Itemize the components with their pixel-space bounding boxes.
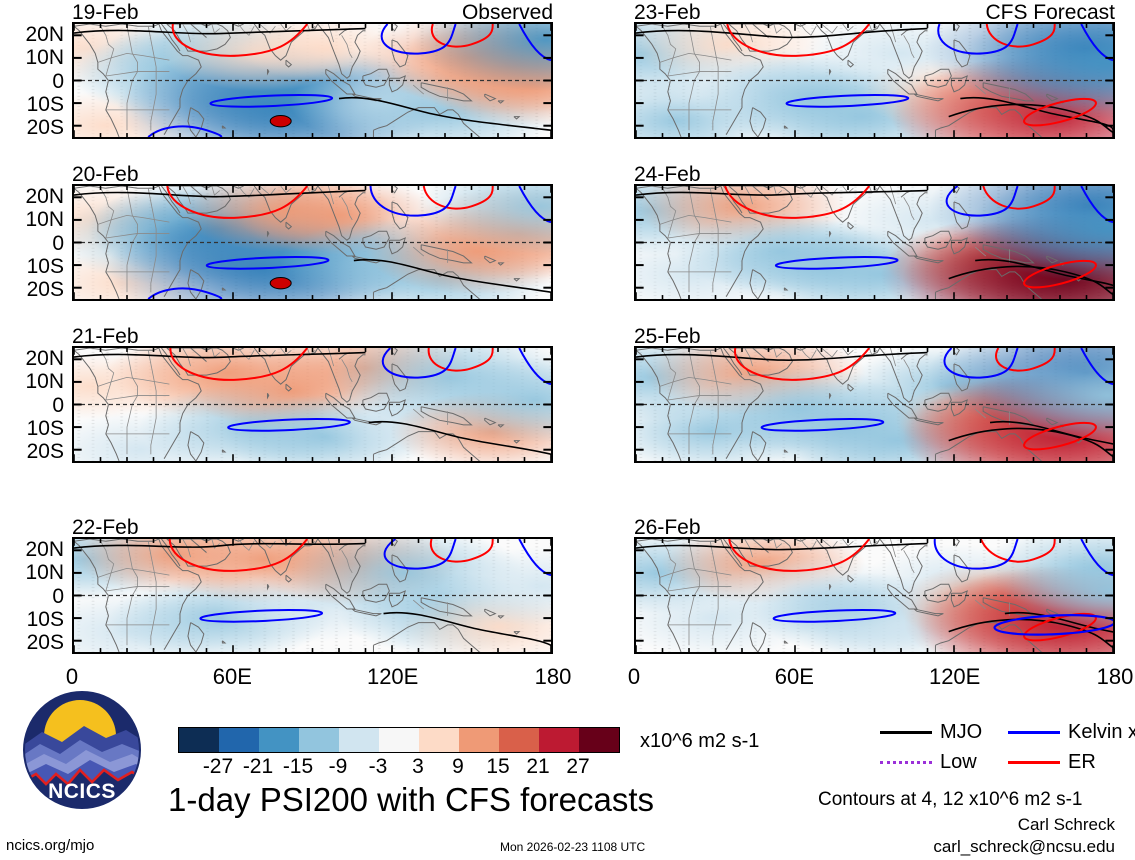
- colorbar-swatch: [259, 728, 299, 752]
- generation-timestamp: Mon 2026-02-23 1108 UTC: [500, 841, 645, 853]
- panel-date-label: 24-Feb: [634, 164, 701, 185]
- colorbar-swatch: [179, 728, 219, 752]
- y-axis-tick-label: 20S: [0, 279, 64, 300]
- y-axis-tick-label: 20N: [0, 348, 64, 369]
- colorbar-units-label: x10^6 m2 s-1: [640, 731, 759, 751]
- svg-text:NCICS: NCICS: [48, 780, 116, 803]
- panel-22-feb: 22-Feb: [72, 517, 553, 654]
- column-header-observed: Observed: [462, 2, 553, 23]
- colorbar: [178, 727, 620, 753]
- x-axis-tick-label: 180: [1075, 666, 1135, 688]
- y-axis-tick-label: 10N: [0, 209, 64, 230]
- page-title: 1-day PSI200 with CFS forecasts: [168, 783, 654, 816]
- panel-20-feb: 20-Feb: [72, 164, 553, 301]
- colorbar-swatch: [219, 728, 259, 752]
- panel-date-label: 22-Feb: [72, 517, 139, 538]
- y-axis-tick-label: 10S: [0, 418, 64, 439]
- author-email: carl_schreck@ncsu.edu: [835, 838, 1115, 855]
- colorbar-swatch: [459, 728, 499, 752]
- legend-label: MJO: [940, 722, 982, 742]
- y-axis-tick-label: 10N: [0, 562, 64, 583]
- panel-date-label: 19-Feb: [72, 2, 139, 23]
- panel-date-label: 25-Feb: [634, 326, 701, 347]
- y-axis-tick-label: 20N: [0, 539, 64, 560]
- map-plot-area: [72, 184, 553, 301]
- panel-25-feb: 25-Feb: [634, 326, 1115, 463]
- map-plot-area: [634, 346, 1115, 463]
- map-plot-area: [72, 537, 553, 654]
- y-axis-tick-label: 10N: [0, 47, 64, 68]
- map-plot-area: [634, 184, 1115, 301]
- y-axis-tick-label: 20N: [0, 24, 64, 45]
- colorbar-tick-label: 27: [552, 756, 604, 777]
- panel-date-label: 23-Feb: [634, 2, 701, 23]
- map-plot-area: [72, 22, 553, 139]
- panel-19-feb: 19-FebObserved: [72, 2, 553, 139]
- legend-line-swatch: [1008, 731, 1060, 734]
- x-axis-tick-label: 0: [594, 666, 674, 688]
- y-axis-tick-label: 10S: [0, 94, 64, 115]
- legend-item-kelvin-x2: Kelvin x2: [1008, 722, 1135, 742]
- colorbar-swatch: [339, 728, 379, 752]
- column-header-cfs-forecast: CFS Forecast: [985, 2, 1115, 23]
- colorbar-swatch: [499, 728, 539, 752]
- y-axis-tick-label: 20N: [0, 186, 64, 207]
- panel-date-label: 26-Feb: [634, 517, 701, 538]
- colorbar-swatch: [579, 728, 619, 752]
- y-axis-tick-label: 20S: [0, 441, 64, 462]
- panel-26-feb: 26-Feb: [634, 517, 1115, 654]
- x-axis-tick-label: 0: [32, 666, 112, 688]
- y-axis-tick-label: 0: [0, 71, 64, 92]
- x-axis-tick-label: 120E: [915, 666, 995, 688]
- author-name: Carl Schreck: [835, 816, 1115, 833]
- map-plot-area: [72, 346, 553, 463]
- panel-date-label: 20-Feb: [72, 164, 139, 185]
- x-axis-tick-label: 60E: [754, 666, 834, 688]
- panel-date-label: 21-Feb: [72, 326, 139, 347]
- panel-21-feb: 21-Feb: [72, 326, 553, 463]
- map-plot-area: [634, 22, 1115, 139]
- y-axis-tick-label: 20S: [0, 632, 64, 653]
- y-axis-tick-label: 0: [0, 586, 64, 607]
- x-axis-tick-label: 120E: [353, 666, 433, 688]
- colorbar-swatch: [419, 728, 459, 752]
- legend-item-er: ER: [1008, 752, 1096, 772]
- map-plot-area: [634, 537, 1115, 654]
- ncics-logo: NCICS: [22, 690, 142, 810]
- y-axis-tick-label: 0: [0, 233, 64, 254]
- colorbar-swatch: [379, 728, 419, 752]
- legend-label: ER: [1068, 752, 1096, 772]
- legend-line-swatch: [1008, 761, 1060, 764]
- y-axis-tick-label: 10S: [0, 609, 64, 630]
- legend-line-swatch: [880, 761, 932, 764]
- legend-label: Low: [940, 752, 977, 772]
- y-axis-tick-label: 10N: [0, 371, 64, 392]
- x-axis-tick-label: 60E: [192, 666, 272, 688]
- y-axis-tick-label: 20S: [0, 117, 64, 138]
- y-axis-tick-label: 10S: [0, 256, 64, 277]
- y-axis-tick-label: 0: [0, 395, 64, 416]
- colorbar-swatch: [539, 728, 579, 752]
- legend-item-low: Low: [880, 752, 977, 772]
- contour-interval-note: Contours at 4, 12 x10^6 m2 s-1: [818, 790, 1083, 809]
- site-url[interactable]: ncics.org/mjo: [6, 838, 94, 853]
- legend-line-swatch: [880, 731, 932, 734]
- legend-label: Kelvin x2: [1068, 722, 1135, 742]
- colorbar-swatch: [299, 728, 339, 752]
- panel-23-feb: 23-FebCFS Forecast: [634, 2, 1115, 139]
- panel-24-feb: 24-Feb: [634, 164, 1115, 301]
- x-axis-tick-label: 180: [513, 666, 593, 688]
- legend-item-mjo: MJO: [880, 722, 982, 742]
